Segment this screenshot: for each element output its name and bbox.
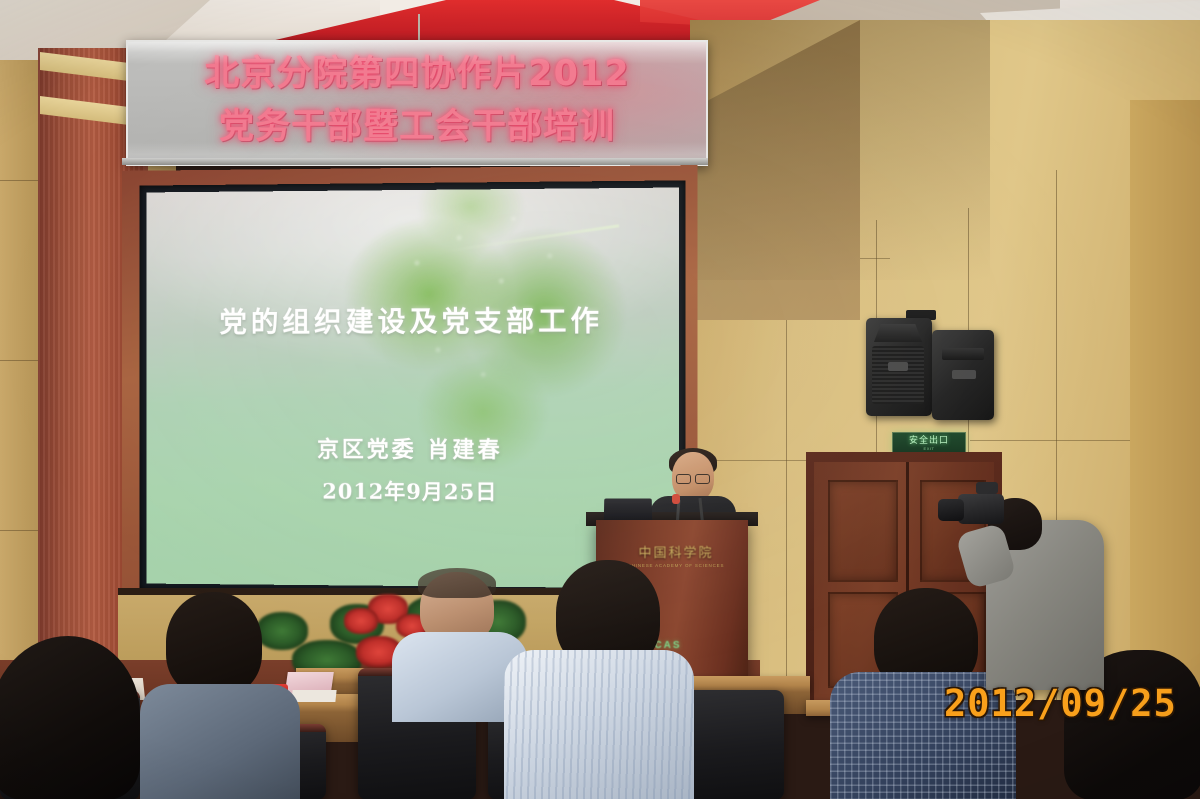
banner-rail (122, 158, 708, 165)
poinsettia (344, 608, 378, 634)
camera-top (976, 482, 998, 494)
presenter-glasses (676, 474, 710, 482)
slide-date: 2012年9月25日 (146, 475, 679, 508)
stage-plant (256, 612, 308, 650)
led-banner: 北京分院第四协作片2012 党务干部暨工会干部培训 (126, 40, 708, 166)
audience-person-head (166, 592, 262, 696)
pa-speaker-left (866, 318, 932, 416)
dslr-camera-lens (938, 499, 964, 521)
desk-paper (291, 690, 336, 702)
exit-sign-label-cn: 安全出口 (909, 436, 949, 446)
dslr-camera-body (958, 494, 1004, 524)
slide-presenter: 京区党委 肖建春 (146, 431, 679, 464)
wall-right-shadow (690, 20, 990, 280)
banner-hanger (418, 14, 420, 42)
audience-person-head (0, 636, 140, 799)
podium-org-cn: 中国科学院 (638, 542, 713, 561)
camera-timestamp: 2012/09/25 (944, 682, 1177, 725)
microphone-head (672, 494, 680, 504)
slide-title: 党的组织建设及党支部工作 (146, 299, 679, 341)
pa-speaker-right (932, 330, 994, 420)
audience-person-torso (140, 684, 300, 799)
podium-org-en: CHINESE ACADEMY OF SCIENCES (628, 563, 725, 568)
audience-shirt-stripes (504, 650, 694, 799)
audience-person-hair (418, 568, 496, 598)
wall-far-right (1130, 100, 1200, 700)
conference-hall-photo: 北京分院第四协作片2012 党务干部暨工会干部培训 党的组织建设及党支部工作 京… (0, 0, 1200, 799)
